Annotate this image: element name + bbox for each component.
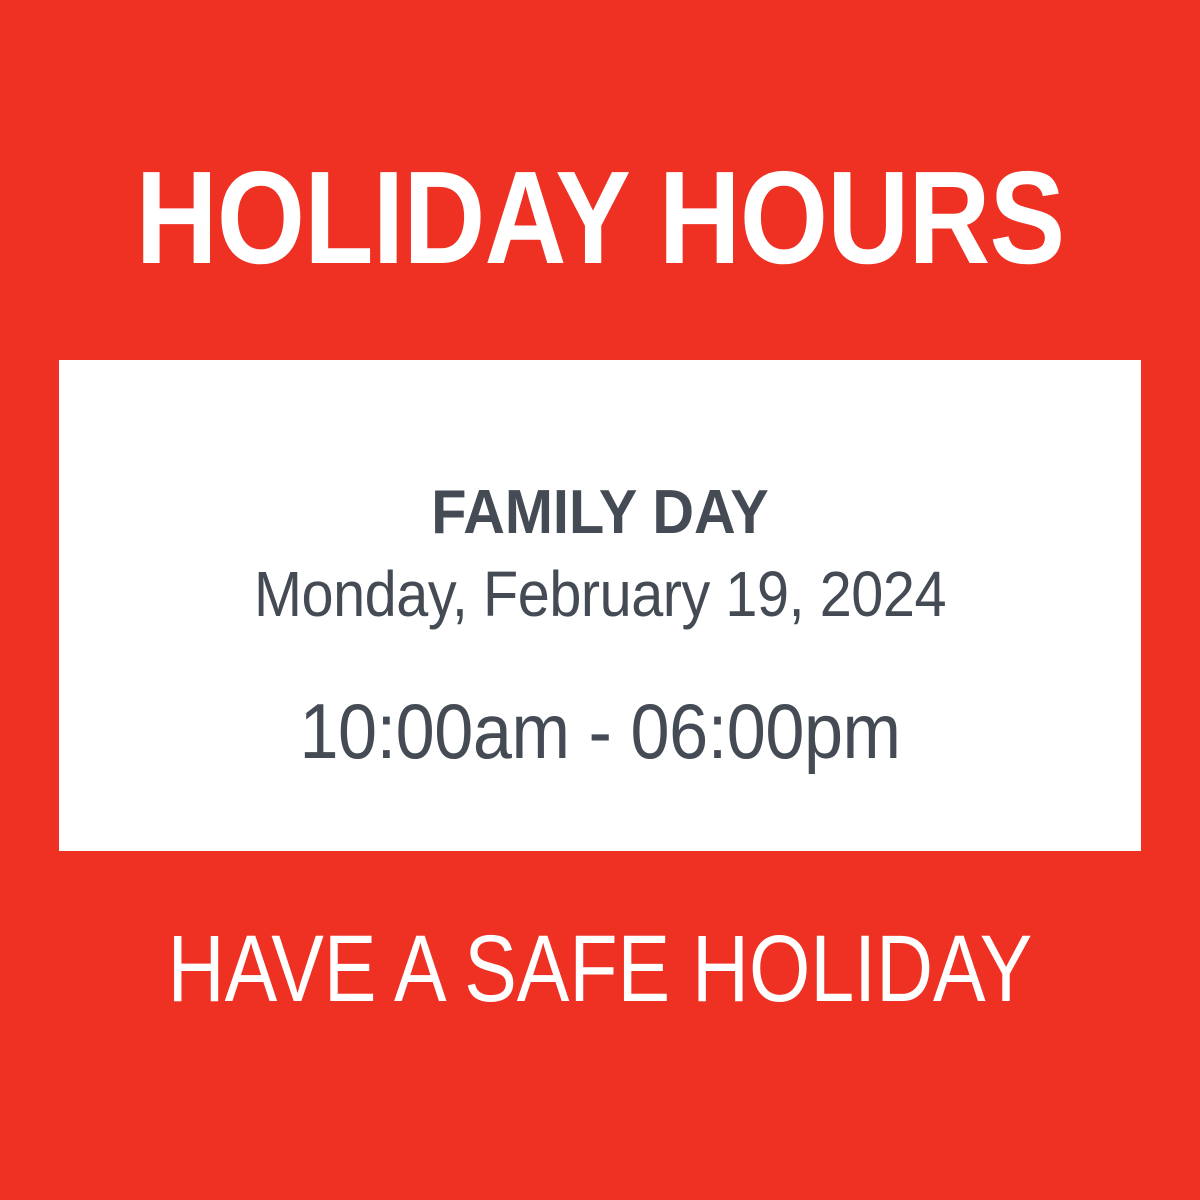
holiday-name: FAMILY DAY bbox=[97, 482, 1103, 544]
holiday-date: Monday, February 19, 2024 bbox=[113, 562, 1087, 626]
date-hours-spacer bbox=[59, 626, 1141, 692]
page-title: HOLIDAY HOURS bbox=[84, 152, 1116, 284]
holiday-info-card-content: FAMILY DAY Monday, February 19, 2024 10:… bbox=[59, 360, 1141, 770]
footer-message: HAVE A SAFE HOLIDAY bbox=[102, 922, 1098, 1017]
holiday-info-card: FAMILY DAY Monday, February 19, 2024 10:… bbox=[59, 360, 1141, 851]
holiday-hours-poster: HOLIDAY HOURS FAMILY DAY Monday, Februar… bbox=[0, 0, 1200, 1200]
holiday-hours: 10:00am - 06:00pm bbox=[113, 692, 1087, 770]
card-top-spacer bbox=[59, 360, 1141, 482]
